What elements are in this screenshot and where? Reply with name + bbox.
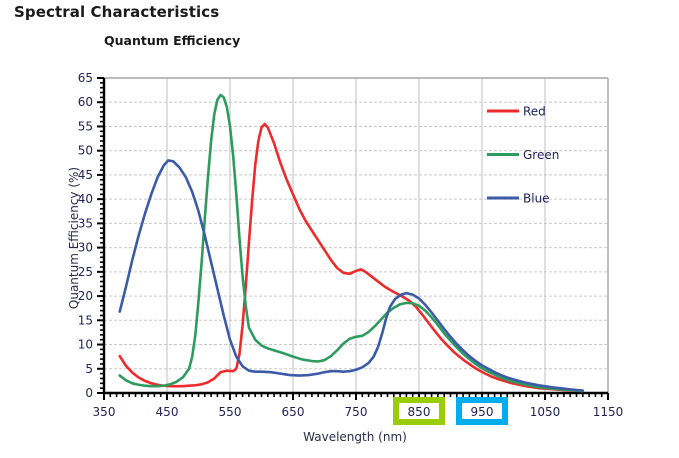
y-tick-label: 10 [78, 338, 93, 352]
x-tick-label: 950 [471, 405, 494, 419]
x-tick-label: 550 [219, 405, 242, 419]
series-line-blue [120, 160, 583, 390]
x-tick-label: 350 [93, 405, 116, 419]
legend-label-green: Green [523, 148, 559, 162]
y-tick-label: 60 [78, 95, 93, 109]
x-tick-label: 1050 [530, 405, 561, 419]
series-line-red [120, 124, 583, 391]
y-tick-label: 0 [85, 386, 93, 400]
y-tick-label: 55 [78, 119, 93, 133]
legend-label-red: Red [523, 105, 546, 119]
y-tick-label: 15 [78, 313, 93, 327]
chart-legend: RedGreenBlue [487, 105, 559, 206]
x-tick-label: 750 [345, 405, 368, 419]
y-axis-title: Quantum Efficiency (%) [67, 167, 81, 309]
x-tick-label: 650 [282, 405, 305, 419]
grid-layer [104, 78, 608, 393]
y-tick-label: 50 [78, 144, 93, 158]
x-tick-label: 1150 [593, 405, 624, 419]
legend-label-blue: Blue [523, 192, 550, 206]
spectral-response-chart: 35045055065075085095010501150 0510152025… [0, 0, 679, 458]
series-layer [120, 95, 583, 391]
x-axis-title: Wavelength (nm) [303, 430, 407, 444]
y-tick-label: 5 [85, 362, 93, 376]
x-axis-tick-labels: 35045055065075085095010501150 [93, 400, 624, 422]
y-tick-label: 65 [78, 71, 93, 85]
series-line-green [120, 95, 583, 391]
x-tick-label: 450 [156, 405, 179, 419]
x-tick-label: 850 [408, 405, 431, 419]
chart-svg: 35045055065075085095010501150 0510152025… [0, 0, 679, 458]
